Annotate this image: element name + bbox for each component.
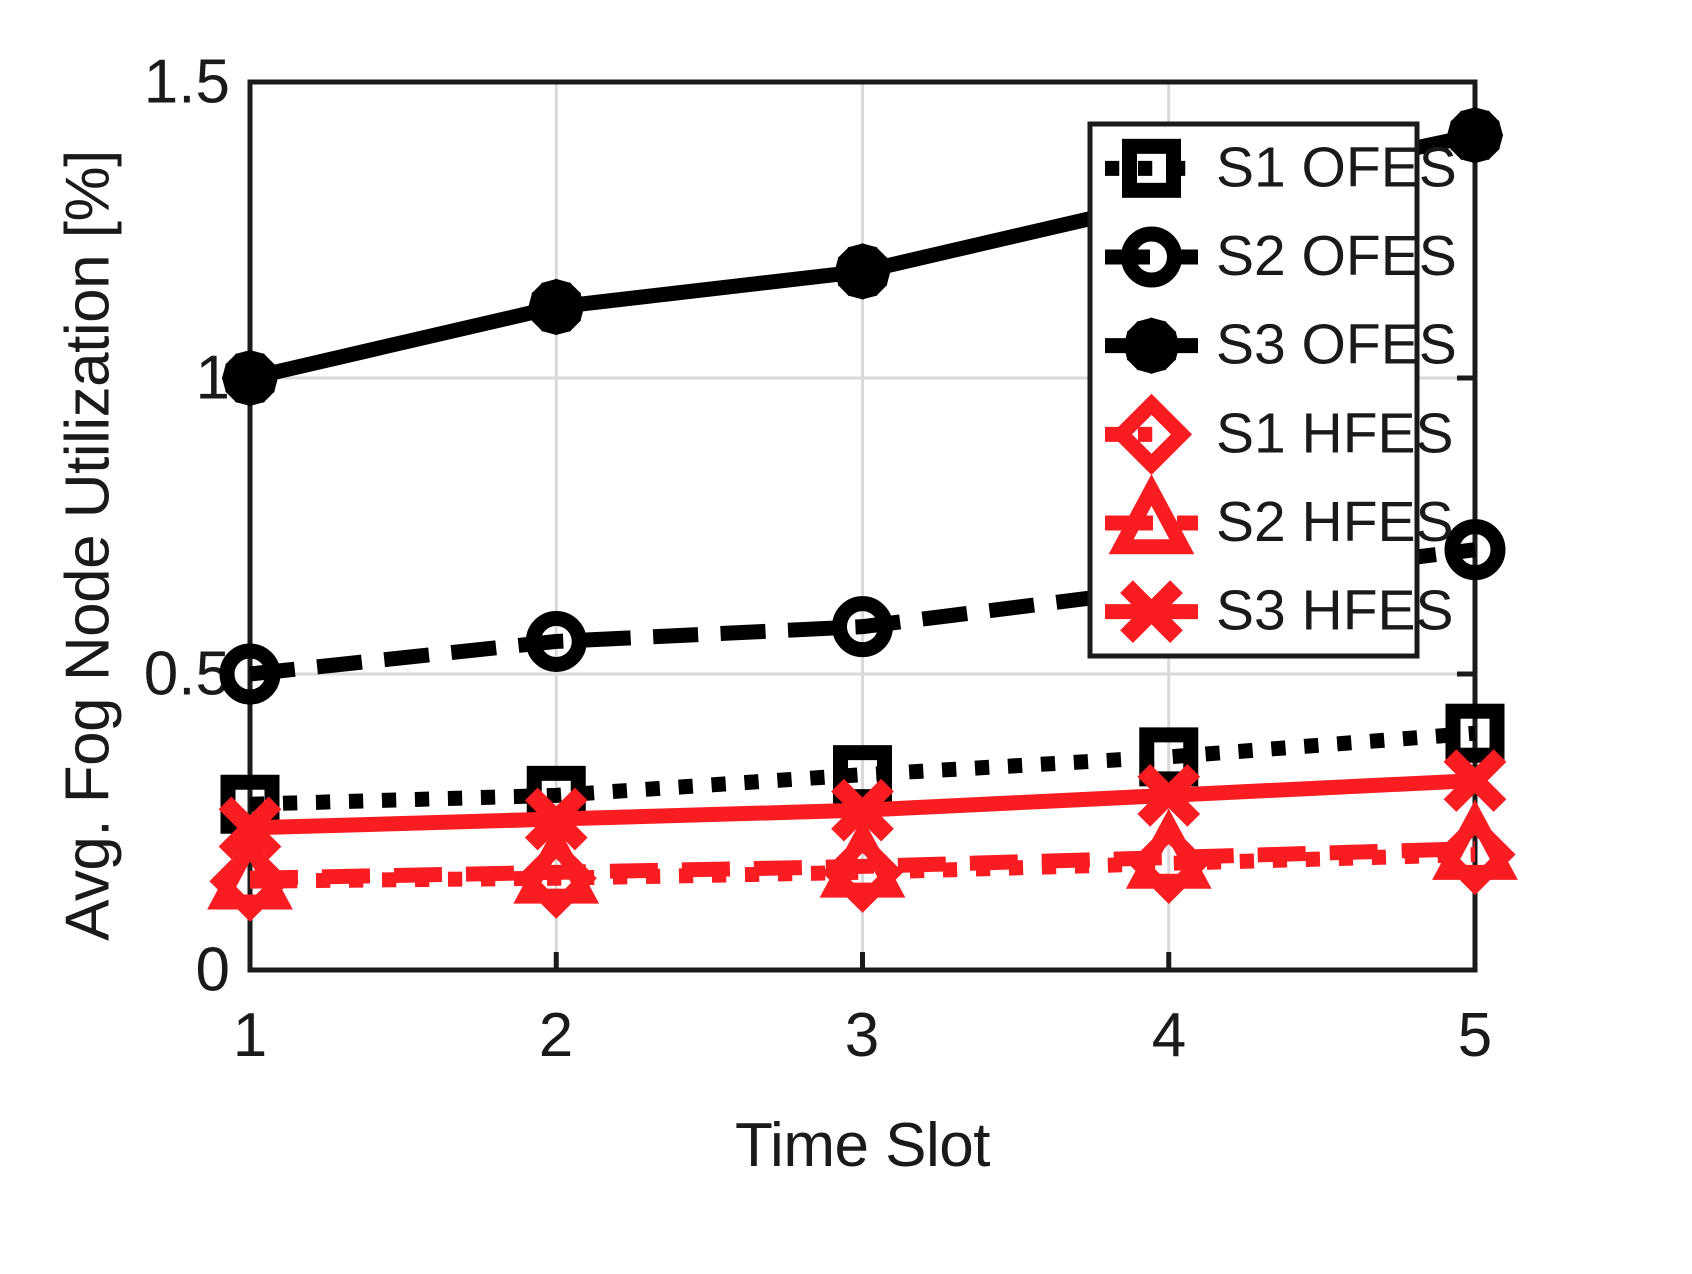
data-point-marker (224, 352, 276, 404)
data-point-marker (836, 245, 888, 297)
legend-label: S2 HFES (1216, 490, 1454, 554)
plot-canvas: S1 OFESS2 OFESS3 OFESS1 HFESS2 HFESS3 HF… (0, 0, 1692, 1274)
legend-label: S2 OFES (1216, 224, 1457, 288)
legend-label: S3 OFES (1216, 313, 1457, 377)
legend-background (1090, 124, 1417, 656)
chart-figure: Avg. Fog Node Utilization [%] Time Slot … (0, 0, 1692, 1274)
data-point-marker (530, 281, 582, 333)
legend-item-s3-ofes[interactable]: S3 OFES (1105, 313, 1457, 377)
legend-box[interactable]: S1 OFESS2 OFESS3 OFESS1 HFESS2 HFESS3 HF… (1090, 124, 1457, 656)
legend-label: S3 HFES (1216, 579, 1454, 643)
legend-marker-sample (1125, 320, 1177, 372)
legend-label: S1 OFES (1216, 135, 1457, 199)
legend-label: S1 HFES (1216, 401, 1454, 465)
